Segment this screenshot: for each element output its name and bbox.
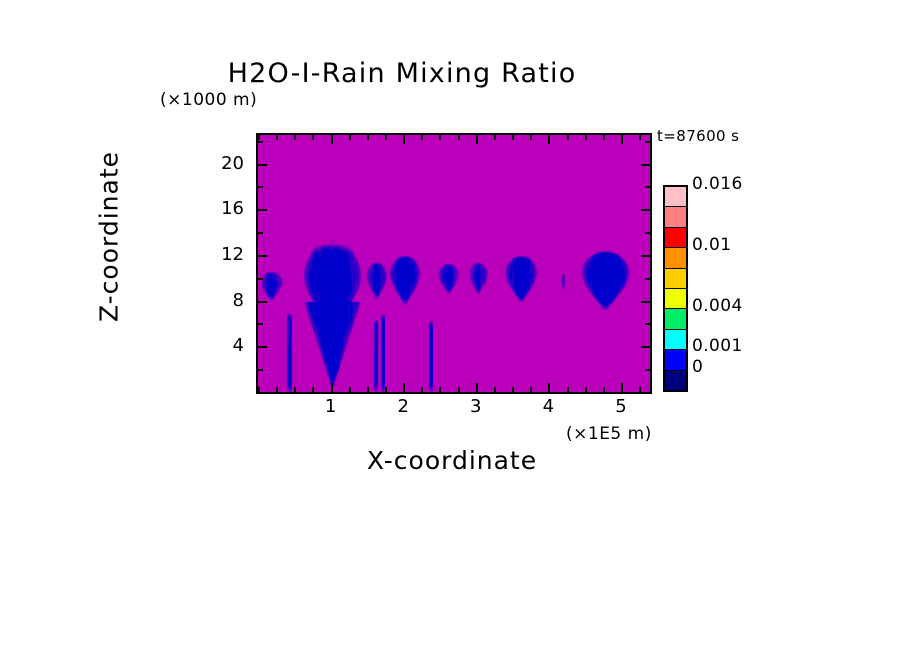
colorbar-tick-label: 0 <box>692 357 703 377</box>
x-minor-tick-top <box>458 135 460 140</box>
colorbar-tick-label: 0.001 <box>692 336 743 356</box>
y-minor-tick <box>258 278 263 280</box>
x-minor-tick <box>639 387 641 392</box>
y-tick-label: 20 <box>198 153 244 174</box>
x-minor-tick-top <box>530 135 532 140</box>
x-tick-label: 2 <box>383 396 423 417</box>
y-minor-tick-right <box>645 392 650 394</box>
y-minor-tick-right <box>645 369 650 371</box>
colorbar-band <box>665 330 686 350</box>
plot-title-text: H2O-I-Rain Mixing Ratio <box>228 58 577 89</box>
x-minor-tick <box>367 387 369 392</box>
x-minor-tick <box>312 387 314 392</box>
heatmap-canvas <box>258 135 650 392</box>
colorbar-band <box>665 187 686 207</box>
y-tick-label: 12 <box>198 244 244 265</box>
colorbar-band <box>665 309 686 329</box>
y-axis-title: Z-coordinate <box>95 112 124 362</box>
x-minor-tick <box>349 387 351 392</box>
x-minor-tick-top <box>385 135 387 140</box>
x-minor-tick <box>567 387 569 392</box>
y-minor-tick <box>258 232 263 234</box>
colorbar-tick-label: 0.004 <box>692 296 743 316</box>
x-minor-tick-top <box>258 135 260 140</box>
y-axis-units-label: (×1000 m) <box>160 90 257 110</box>
colorbar-band <box>665 371 686 390</box>
x-minor-tick-top <box>349 135 351 140</box>
colorbar-band <box>665 248 686 268</box>
x-minor-tick-top <box>312 135 314 140</box>
y-major-tick-right <box>641 301 650 303</box>
y-minor-tick-right <box>645 141 650 143</box>
x-axis-title: X-coordinate <box>256 446 648 475</box>
page-title: H2O-I-Rain Mixing Ratio <box>0 58 904 89</box>
plot-area <box>256 133 652 394</box>
y-major-tick <box>258 301 267 303</box>
x-major-tick <box>476 383 478 392</box>
x-tick-label: 1 <box>311 396 351 417</box>
x-minor-tick <box>530 387 532 392</box>
y-major-tick-right <box>641 255 650 257</box>
y-minor-tick <box>258 392 263 394</box>
y-minor-tick-right <box>645 323 650 325</box>
x-major-tick-top <box>403 135 405 144</box>
x-minor-tick-top <box>367 135 369 140</box>
x-minor-tick-top <box>512 135 514 140</box>
y-major-tick <box>258 255 267 257</box>
y-major-tick <box>258 164 267 166</box>
x-major-tick-top <box>621 135 623 144</box>
colorbar-tick-label: 0.01 <box>692 235 731 255</box>
x-tick-label: 5 <box>601 396 641 417</box>
y-minor-tick <box>258 369 263 371</box>
colorbar <box>663 185 688 392</box>
y-major-tick <box>258 346 267 348</box>
y-tick-label: 8 <box>198 290 244 311</box>
x-minor-tick <box>421 387 423 392</box>
y-minor-tick-right <box>645 278 650 280</box>
x-minor-tick-top <box>276 135 278 140</box>
y-major-tick-right <box>641 346 650 348</box>
y-minor-tick-right <box>645 186 650 188</box>
x-axis-units-label: (×1E5 m) <box>566 424 652 444</box>
x-major-tick-top <box>331 135 333 144</box>
y-tick-label: 16 <box>198 198 244 219</box>
x-minor-tick <box>294 387 296 392</box>
x-minor-tick-top <box>567 135 569 140</box>
y-minor-tick <box>258 323 263 325</box>
x-minor-tick <box>439 387 441 392</box>
x-minor-tick <box>585 387 587 392</box>
x-tick-label: 3 <box>456 396 496 417</box>
x-minor-tick <box>512 387 514 392</box>
x-tick-label: 4 <box>528 396 568 417</box>
x-minor-tick-top <box>639 135 641 140</box>
y-major-tick-right <box>641 164 650 166</box>
y-minor-tick-right <box>645 232 650 234</box>
x-minor-tick-top <box>421 135 423 140</box>
x-minor-tick-top <box>439 135 441 140</box>
x-major-tick <box>331 383 333 392</box>
x-minor-tick <box>385 387 387 392</box>
x-minor-tick <box>276 387 278 392</box>
colorbar-band <box>665 289 686 309</box>
x-major-tick <box>548 383 550 392</box>
colorbar-tick-label: 0.016 <box>692 174 743 194</box>
colorbar-band <box>665 207 686 227</box>
colorbar-band <box>665 350 686 370</box>
x-minor-tick <box>603 387 605 392</box>
y-minor-tick <box>258 186 263 188</box>
y-major-tick <box>258 209 267 211</box>
x-major-tick <box>403 383 405 392</box>
y-minor-tick <box>258 141 263 143</box>
y-tick-label: 4 <box>198 335 244 356</box>
x-major-tick-top <box>548 135 550 144</box>
x-minor-tick <box>494 387 496 392</box>
x-minor-tick-top <box>603 135 605 140</box>
x-minor-tick-top <box>494 135 496 140</box>
x-minor-tick <box>458 387 460 392</box>
colorbar-band <box>665 228 686 248</box>
colorbar-band <box>665 269 686 289</box>
time-annotation: t=87600 s <box>657 127 739 145</box>
x-minor-tick-top <box>294 135 296 140</box>
x-major-tick <box>621 383 623 392</box>
x-major-tick-top <box>476 135 478 144</box>
x-minor-tick-top <box>585 135 587 140</box>
y-major-tick-right <box>641 209 650 211</box>
